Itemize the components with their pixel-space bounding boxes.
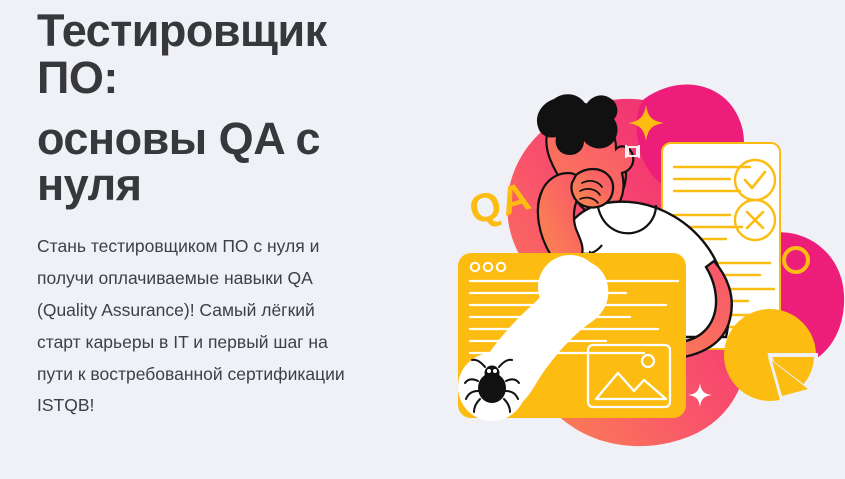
page-subtitle: основы QA с нуля [37,116,367,210]
pie-chart-icon [724,309,816,401]
page-description: Стань тестировщиком ПО с нуля и получи о… [37,231,355,422]
hand [571,169,613,207]
page-title: Тестировщик ПО: [37,8,367,102]
hero-text-column: Тестировщик ПО: основы QA с нуля Стань т… [37,8,367,422]
hero-banner: Тестировщик ПО: основы QA с нуля Стань т… [0,0,845,479]
qa-tester-illustration: QA [430,55,845,479]
